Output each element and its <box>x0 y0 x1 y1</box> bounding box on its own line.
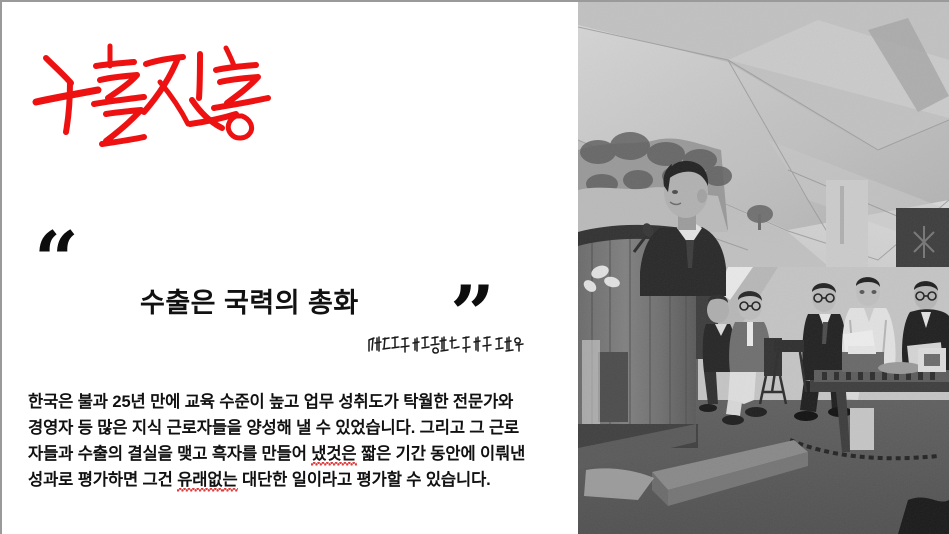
body-segment: 대단한 일이라고 평가할 수 있습니다. <box>238 471 491 489</box>
slide-root: “ 수출은 국력의 총화 ” <box>0 0 949 534</box>
calligraphy-headline-icon <box>30 36 290 152</box>
quote-open-mark: “ <box>34 222 79 300</box>
body-segment-misspelled: 는 <box>222 471 237 492</box>
quote-attribution-signature <box>366 334 526 356</box>
calligraphy-headline <box>30 36 290 152</box>
slide-top-border <box>0 0 949 2</box>
signature-icon <box>366 334 526 356</box>
historical-photograph <box>578 0 949 534</box>
photograph-content <box>578 0 949 534</box>
quote-text: 수출은 국력의 총화 <box>140 281 460 320</box>
body-segment-misspelled: 냈것은 <box>311 445 356 466</box>
slide-left-border <box>0 0 2 534</box>
left-text-panel: “ 수출은 국력의 총화 ” <box>0 0 578 534</box>
body-paragraph: 한국은 불과 25년 만에 교육 수준이 높고 업무 성취도가 탁월한 전문가와… <box>28 389 528 493</box>
body-segment-misspelled: 유래없 <box>177 471 222 492</box>
